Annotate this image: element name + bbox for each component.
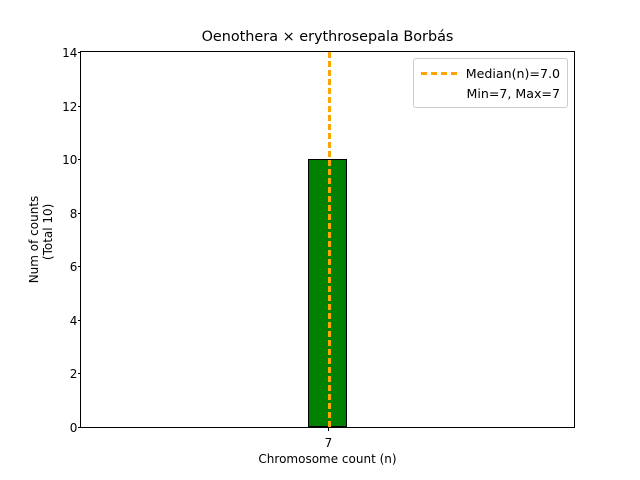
ytick-mark-12: 12 bbox=[78, 106, 82, 107]
legend-label-minmax: Min=7, Max=7 bbox=[466, 86, 560, 101]
median-line bbox=[328, 52, 331, 427]
ytick-label-10: 10 bbox=[62, 153, 77, 167]
legend-entry-minmax: Min=7, Max=7 bbox=[421, 84, 560, 102]
ytick-label-2: 2 bbox=[70, 367, 78, 381]
ytick-label-14: 14 bbox=[62, 46, 77, 60]
legend-entry-median: Median(n)=7.0 bbox=[421, 64, 560, 82]
plot-inner bbox=[81, 52, 574, 427]
xtick-label-7: 7 bbox=[325, 436, 333, 450]
ytick-label-0: 0 bbox=[70, 421, 78, 435]
x-axis-label: Chromosome count (n) bbox=[80, 452, 575, 466]
legend: Median(n)=7.0 Min=7, Max=7 bbox=[413, 58, 568, 108]
chart-title: Oenothera × erythrosepala Borbás bbox=[80, 29, 575, 46]
ytick-mark-6: 6 bbox=[78, 266, 82, 267]
ytick-mark-4: 4 bbox=[78, 320, 82, 321]
chart-figure: Oenothera × erythrosepala Borbás 0 2 4 6… bbox=[0, 0, 640, 480]
ytick-mark-8: 8 bbox=[78, 213, 82, 214]
plot-area: 0 2 4 6 8 10 12 14 7 Media bbox=[80, 51, 575, 428]
dashed-line-icon bbox=[421, 72, 457, 75]
ytick-label-6: 6 bbox=[70, 260, 78, 274]
ytick-label-4: 4 bbox=[70, 314, 78, 328]
ytick-mark-10: 10 bbox=[78, 159, 82, 160]
ytick-mark-0: 0 bbox=[78, 427, 82, 428]
legend-label-median: Median(n)=7.0 bbox=[466, 66, 560, 81]
blank-swatch-icon bbox=[421, 92, 457, 95]
y-axis-label: Num of counts (Total 10) bbox=[28, 51, 54, 428]
xtick-mark-7: 7 bbox=[328, 427, 329, 431]
ytick-mark-14: 14 bbox=[78, 52, 82, 53]
ytick-label-8: 8 bbox=[70, 207, 78, 221]
ytick-mark-2: 2 bbox=[78, 373, 82, 374]
ytick-label-12: 12 bbox=[62, 100, 77, 114]
